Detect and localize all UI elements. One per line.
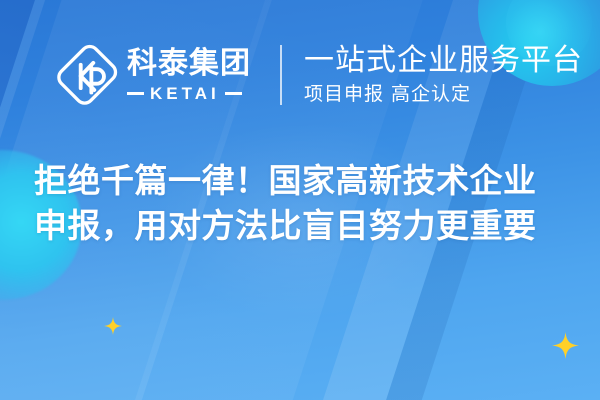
tagline-block: 一站式企业服务平台 项目申报 高企认定 [304, 45, 583, 105]
sparkle-star-icon-large [552, 332, 579, 359]
company-name-en: KETAI [150, 85, 220, 102]
headline-block: 拒绝千篇一律！国家高新技术企业 申报，用对方法比盲目努力更重要 [0, 158, 600, 248]
promo-banner: 科泰集团 KETAI 一站式企业服务平台 项目申报 高企认定 拒绝千篇一律！国家… [0, 0, 600, 400]
tagline-main: 一站式企业服务平台 [304, 45, 583, 77]
company-name-en-row: KETAI [127, 85, 251, 102]
banner-header: 科泰集团 KETAI 一站式企业服务平台 项目申报 高企认定 [0, 34, 600, 116]
brand-logo: 科泰集团 KETAI [56, 44, 251, 106]
header-divider [280, 45, 282, 105]
company-name-cn: 科泰集团 [127, 49, 251, 79]
logo-rule-right [225, 92, 242, 95]
ketai-kp-diamond-logo-icon [56, 44, 118, 106]
brand-logo-text: 科泰集团 KETAI [127, 49, 251, 102]
tagline-sub: 项目申报 高企认定 [304, 84, 583, 105]
headline-line-1: 拒绝千篇一律！国家高新技术企业 [34, 158, 566, 203]
headline-line-2: 申报，用对方法比盲目努力更重要 [34, 203, 566, 248]
sparkle-star-icon-small [104, 317, 122, 335]
logo-rule-left [127, 92, 144, 95]
